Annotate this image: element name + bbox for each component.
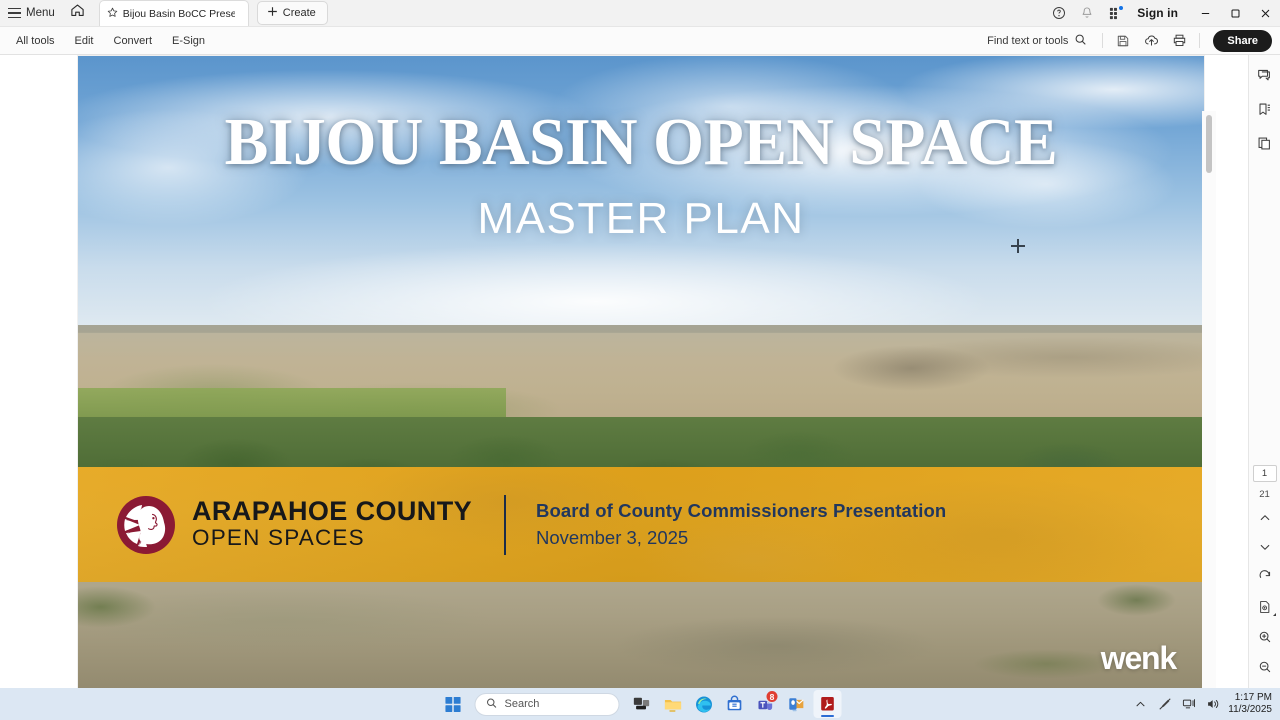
slide-subtitle: MASTER PLAN (78, 194, 1204, 244)
find-label: Find text or tools (987, 35, 1068, 47)
scrollbar-thumb[interactable] (1206, 115, 1212, 173)
system-tray: 1:17 PM 11/3/2025 (1132, 692, 1272, 717)
comments-panel-button[interactable] (1252, 63, 1278, 87)
clock-date: 11/3/2025 (1228, 704, 1272, 717)
create-button[interactable]: Create (257, 1, 328, 25)
chevron-up-icon[interactable] (1132, 694, 1149, 714)
taskbar-search-input[interactable]: Search (475, 693, 620, 716)
toolbar-item-edit[interactable]: Edit (65, 30, 104, 52)
acrobat-window: Menu Bijou Basin BoCC Presen... close-ic… (0, 0, 1280, 720)
pdf-page-1[interactable]: BIJOU BASIN OPEN SPACE MASTER PLAN (78, 56, 1204, 688)
arapahoe-county-seal-icon (116, 495, 176, 555)
previous-page-button[interactable] (1252, 507, 1278, 529)
next-page-button[interactable] (1252, 536, 1278, 558)
edge-icon[interactable] (690, 690, 718, 718)
star-icon[interactable] (107, 7, 118, 21)
hamburger-icon (8, 8, 21, 18)
presentation-title: Board of County Commissioners Presentati… (536, 500, 946, 522)
current-page-input[interactable]: 1 (1253, 465, 1277, 482)
arapahoe-county-logo: ARAPAHOE COUNTY OPEN SPACES (116, 495, 472, 555)
foreground-shrubs-region (78, 575, 1204, 688)
bell-icon[interactable] (1073, 0, 1101, 27)
find-input[interactable]: Find text or tools (979, 33, 1095, 49)
toolbar-divider-2 (1199, 33, 1200, 48)
folder-icon[interactable] (659, 690, 687, 718)
arapahoe-county-wordmark: ARAPAHOE COUNTY OPEN SPACES (192, 498, 472, 550)
org-name-line-1: ARAPAHOE COUNTY (192, 496, 472, 526)
network-icon[interactable] (1180, 694, 1197, 714)
teams-badge: 8 (766, 690, 779, 703)
titlebar-right-group: Sign in (1045, 0, 1280, 27)
zoom-out-button[interactable] (1252, 656, 1278, 678)
clock-time: 1:17 PM (1228, 692, 1272, 705)
presentation-date: November 3, 2025 (536, 527, 946, 549)
search-placeholder: Search (505, 698, 540, 710)
window-close-button[interactable] (1250, 0, 1280, 27)
home-button[interactable] (63, 0, 93, 26)
menu-label: Menu (26, 7, 55, 19)
create-label: Create (283, 7, 316, 19)
acrobat-icon[interactable] (814, 690, 842, 718)
taskbar-clock[interactable]: 1:17 PM 11/3/2025 (1228, 692, 1272, 717)
vertical-scrollbar[interactable] (1202, 111, 1216, 688)
page-thumbnails-panel-button[interactable] (1252, 131, 1278, 155)
print-icon[interactable] (1166, 29, 1192, 53)
apps-badge-dot (1119, 6, 1123, 10)
org-name-line-2: OPEN SPACES (192, 526, 472, 551)
wenk-logo: wenk (1101, 640, 1176, 677)
toolbar-item-e-sign[interactable]: E-Sign (162, 30, 215, 52)
windows-taskbar: Search 8 (0, 688, 1280, 720)
toolbar-right-group: Find text or tools Share (979, 29, 1280, 53)
slide-title: BIJOU BASIN OPEN SPACE (89, 109, 1192, 176)
toolbar-item-all-tools[interactable]: All tools (6, 30, 65, 52)
outlook-icon[interactable] (783, 690, 811, 718)
sign-in-button[interactable]: Sign in (1129, 6, 1190, 20)
document-viewport[interactable]: BIJOU BASIN OPEN SPACE MASTER PLAN (0, 55, 1248, 688)
windows-start-icon[interactable] (439, 690, 467, 718)
plus-icon (267, 6, 278, 20)
save-icon[interactable] (1110, 29, 1136, 53)
toolbar-divider (1102, 33, 1103, 48)
apps-grid-icon[interactable] (1101, 0, 1129, 27)
total-pages-label: 21 (1259, 489, 1270, 500)
search-icon (486, 697, 498, 712)
minimize-button[interactable] (1190, 0, 1220, 27)
document-tab[interactable]: Bijou Basin BoCC Presen... close-icon (99, 0, 249, 26)
gold-banner: ARAPAHOE COUNTY OPEN SPACES Board of Cou… (78, 467, 1204, 582)
presentation-info: Board of County Commissioners Presentati… (536, 500, 946, 549)
zoom-in-button[interactable] (1252, 626, 1278, 648)
store-icon[interactable] (721, 690, 749, 718)
maximize-button[interactable] (1220, 0, 1250, 27)
title-bar: Menu Bijou Basin BoCC Presen... close-ic… (0, 0, 1280, 27)
home-icon (70, 3, 85, 23)
tools-toolbar: All tools Edit Convert E-Sign Find text … (0, 27, 1280, 55)
teams-icon[interactable]: 8 (752, 690, 780, 718)
search-icon (1074, 33, 1087, 49)
right-panel-rail: 1 21 (1248, 55, 1280, 688)
banner-divider (504, 495, 506, 555)
help-circle-icon[interactable] (1045, 0, 1073, 27)
pen-slash-icon[interactable] (1156, 694, 1173, 714)
fit-page-button[interactable] (1252, 596, 1278, 618)
rotate-page-button[interactable] (1252, 566, 1278, 588)
tab-title: Bijou Basin BoCC Presen... (123, 8, 235, 20)
mouse-cursor-crosshair (1011, 239, 1025, 253)
share-button[interactable]: Share (1213, 30, 1272, 52)
chevron-down-icon (1273, 613, 1276, 616)
menu-button[interactable]: Menu (0, 0, 63, 26)
bookmarks-panel-button[interactable] (1252, 97, 1278, 121)
taskbar-center-group: Search 8 (439, 690, 842, 718)
cloud-upload-icon[interactable] (1138, 29, 1164, 53)
toolbar-item-convert[interactable]: Convert (104, 30, 163, 52)
volume-icon[interactable] (1204, 694, 1221, 714)
task-view-icon[interactable] (628, 690, 656, 718)
